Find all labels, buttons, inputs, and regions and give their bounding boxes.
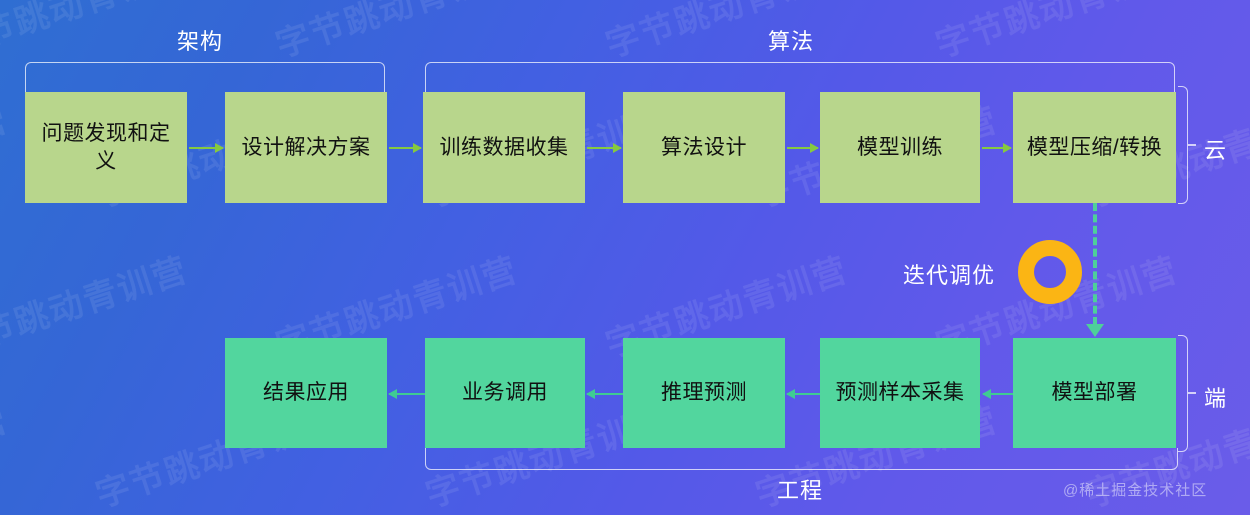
bracket-algorithm (425, 62, 1175, 92)
arrow-algorithm-to-training (787, 147, 818, 149)
group-label-architecture: 架构 (177, 24, 223, 56)
dashed-connector-compression-to-deployment (1093, 203, 1097, 325)
bracket-engineering (425, 448, 1178, 470)
bracket-architecture (25, 62, 385, 92)
arrow-deployment-to-sampling (983, 393, 1013, 395)
bracket-lane-device-nub (1188, 392, 1196, 394)
watermark-tile: 字节跳动青训营 (0, 242, 193, 366)
process-box-prediction-sampling[interactable]: 预测样本采集 (820, 338, 980, 448)
process-box-training-data-collection[interactable]: 训练数据收集 (423, 92, 585, 203)
lane-label-device: 端 (1204, 381, 1227, 413)
watermark-tile: 字节跳动青训营 (0, 0, 193, 67)
dashed-connector-arrowhead (1086, 324, 1104, 337)
lane-label-cloud: 云 (1204, 133, 1227, 165)
process-box-problem-definition[interactable]: 问题发现和定义 (25, 92, 187, 203)
process-box-solution-design[interactable]: 设计解决方案 (225, 92, 387, 203)
process-box-inference-prediction[interactable]: 推理预测 (623, 338, 785, 448)
watermark-tile: 字节跳动青训营 (269, 0, 524, 67)
watermark-tile: 字节跳动青训营 (929, 0, 1184, 67)
bracket-lane-device (1178, 335, 1188, 452)
watermark-tile: 字节跳动青训营 (0, 92, 13, 216)
bracket-lane-cloud-nub (1188, 144, 1196, 146)
iteration-label: 迭代调优 (903, 258, 995, 290)
process-box-business-invocation[interactable]: 业务调用 (425, 338, 585, 448)
diagram-canvas: 字节跳动青训营字节跳动青训营字节跳动青训营字节跳动青训营字节跳动青训营字节跳动青… (0, 0, 1250, 515)
arrow-sampling-to-inference (787, 393, 820, 395)
arrow-inference-to-business (587, 393, 623, 395)
arrow-training-to-compression (982, 147, 1011, 149)
credit-watermark: @稀土掘金技术社区 (1063, 479, 1207, 500)
process-box-model-compression[interactable]: 模型压缩/转换 (1013, 92, 1176, 203)
arrow-data-to-algorithm (587, 147, 621, 149)
watermark-tile: 字节跳动青训营 (0, 392, 13, 515)
group-label-algorithm: 算法 (768, 24, 814, 56)
bracket-lane-cloud (1178, 86, 1188, 204)
process-box-model-training[interactable]: 模型训练 (820, 92, 980, 203)
watermark-tile: 字节跳动青训营 (599, 0, 854, 67)
arrow-business-to-result (389, 393, 425, 395)
arrow-solution-to-data (389, 147, 421, 149)
group-label-engineering: 工程 (777, 473, 823, 505)
process-box-result-application[interactable]: 结果应用 (225, 338, 387, 448)
ring-icon (1018, 240, 1082, 304)
arrow-problem-to-solution (189, 147, 223, 149)
process-box-algorithm-design[interactable]: 算法设计 (623, 92, 785, 203)
process-box-model-deployment[interactable]: 模型部署 (1013, 338, 1176, 448)
